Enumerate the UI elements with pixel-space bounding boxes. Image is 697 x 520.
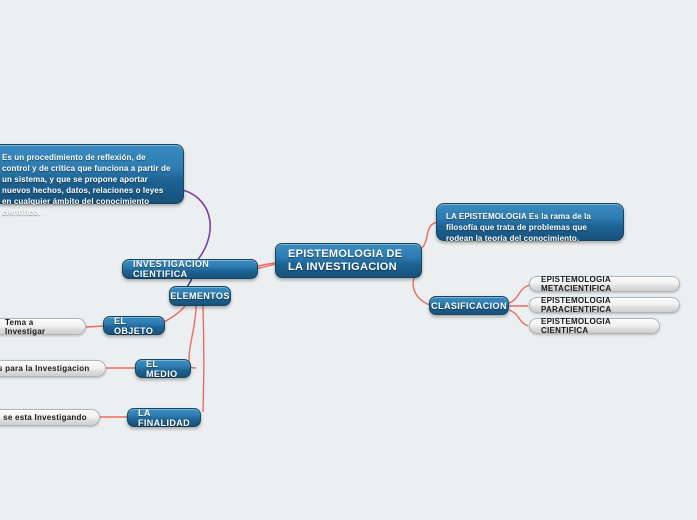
node-tecnicas-para-la-investigacion-label: Tecnicas para la Investigacion [0,364,90,373]
node-la-cual-se-esta-investigando[interactable]: la cual se esta Investigando [0,409,100,426]
node-clasificacion[interactable]: CLASIFICACION [429,296,509,315]
edge-root-left-stub [256,264,276,269]
edge-elementos-to-finalidad [203,306,204,412]
root-node[interactable]: EPISTEMOLOGIA DE LA INVESTIGACION [275,243,422,278]
node-epistemologia-cientifica[interactable]: EPISTEMOLOGIA CIENTIFICA [529,318,660,334]
node-tecnicas-para-la-investigacion[interactable]: Tecnicas para la Investigacion [0,360,106,377]
node-epistemologia-metacientifica-label: EPISTEMOLOGIA METACIENTIFICA [541,275,668,293]
edge-definicion-to-investigacion [183,190,210,262]
definition-investigacion-text: Es un procedimiento de reflexión, de con… [2,152,174,218]
edge-elementos-to-medio [189,306,196,367]
node-epistemologia-metacientifica[interactable]: EPISTEMOLOGIA METACIENTIFICA [529,276,680,292]
definition-epistemologia[interactable]: LA EPISTEMOLOGIA Es la rama de la filoso… [436,203,624,241]
definition-investigacion-cientifica[interactable]: Es un procedimiento de reflexión, de con… [0,144,184,204]
node-clasificacion-label: CLASIFICACION [431,301,507,311]
edge-elementos-to-objeto [162,306,185,323]
node-el-medio-label: EL MEDIO [146,359,180,379]
node-la-cual-se-esta-investigando-label: la cual se esta Investigando [0,413,87,422]
node-la-finalidad[interactable]: LA FINALIDAD [127,408,201,427]
node-tema-a-investigar[interactable]: Tema a Investigar [0,318,86,335]
edge-clasificacion-to-cientifica [509,310,528,326]
node-epistemologia-paracientifica[interactable]: EPISTEMOLOGIA PARACIENTIFICA [529,297,680,313]
node-elementos[interactable]: ELEMENTOS [169,286,231,306]
node-la-finalidad-label: LA FINALIDAD [138,408,190,428]
node-epistemologia-paracientifica-label: EPISTEMOLOGIA PARACIENTIFICA [541,296,668,314]
node-el-objeto-label: EL OBJETO [114,316,154,336]
node-investigacion-cientifica-label: INVESTIGACION CIENTIFICA [133,259,247,279]
edge-clasificacion-to-metacientifica [509,285,530,303]
node-el-objeto[interactable]: EL OBJETO [103,316,165,335]
node-tema-a-investigar-label: Tema a Investigar [5,318,74,336]
mindmap-canvas: Es un procedimiento de reflexión, de con… [0,0,697,520]
root-node-label: EPISTEMOLOGIA DE LA INVESTIGACION [288,248,409,274]
definition-epistemologia-text: LA EPISTEMOLOGIA Es la rama de la filoso… [446,211,614,244]
node-investigacion-cientifica[interactable]: INVESTIGACION CIENTIFICA [122,259,258,279]
node-elementos-label: ELEMENTOS [170,291,229,301]
node-epistemologia-cientifica-label: EPISTEMOLOGIA CIENTIFICA [541,317,648,335]
edge-objeto-to-tema [86,326,104,327]
node-el-medio[interactable]: EL MEDIO [135,359,191,378]
